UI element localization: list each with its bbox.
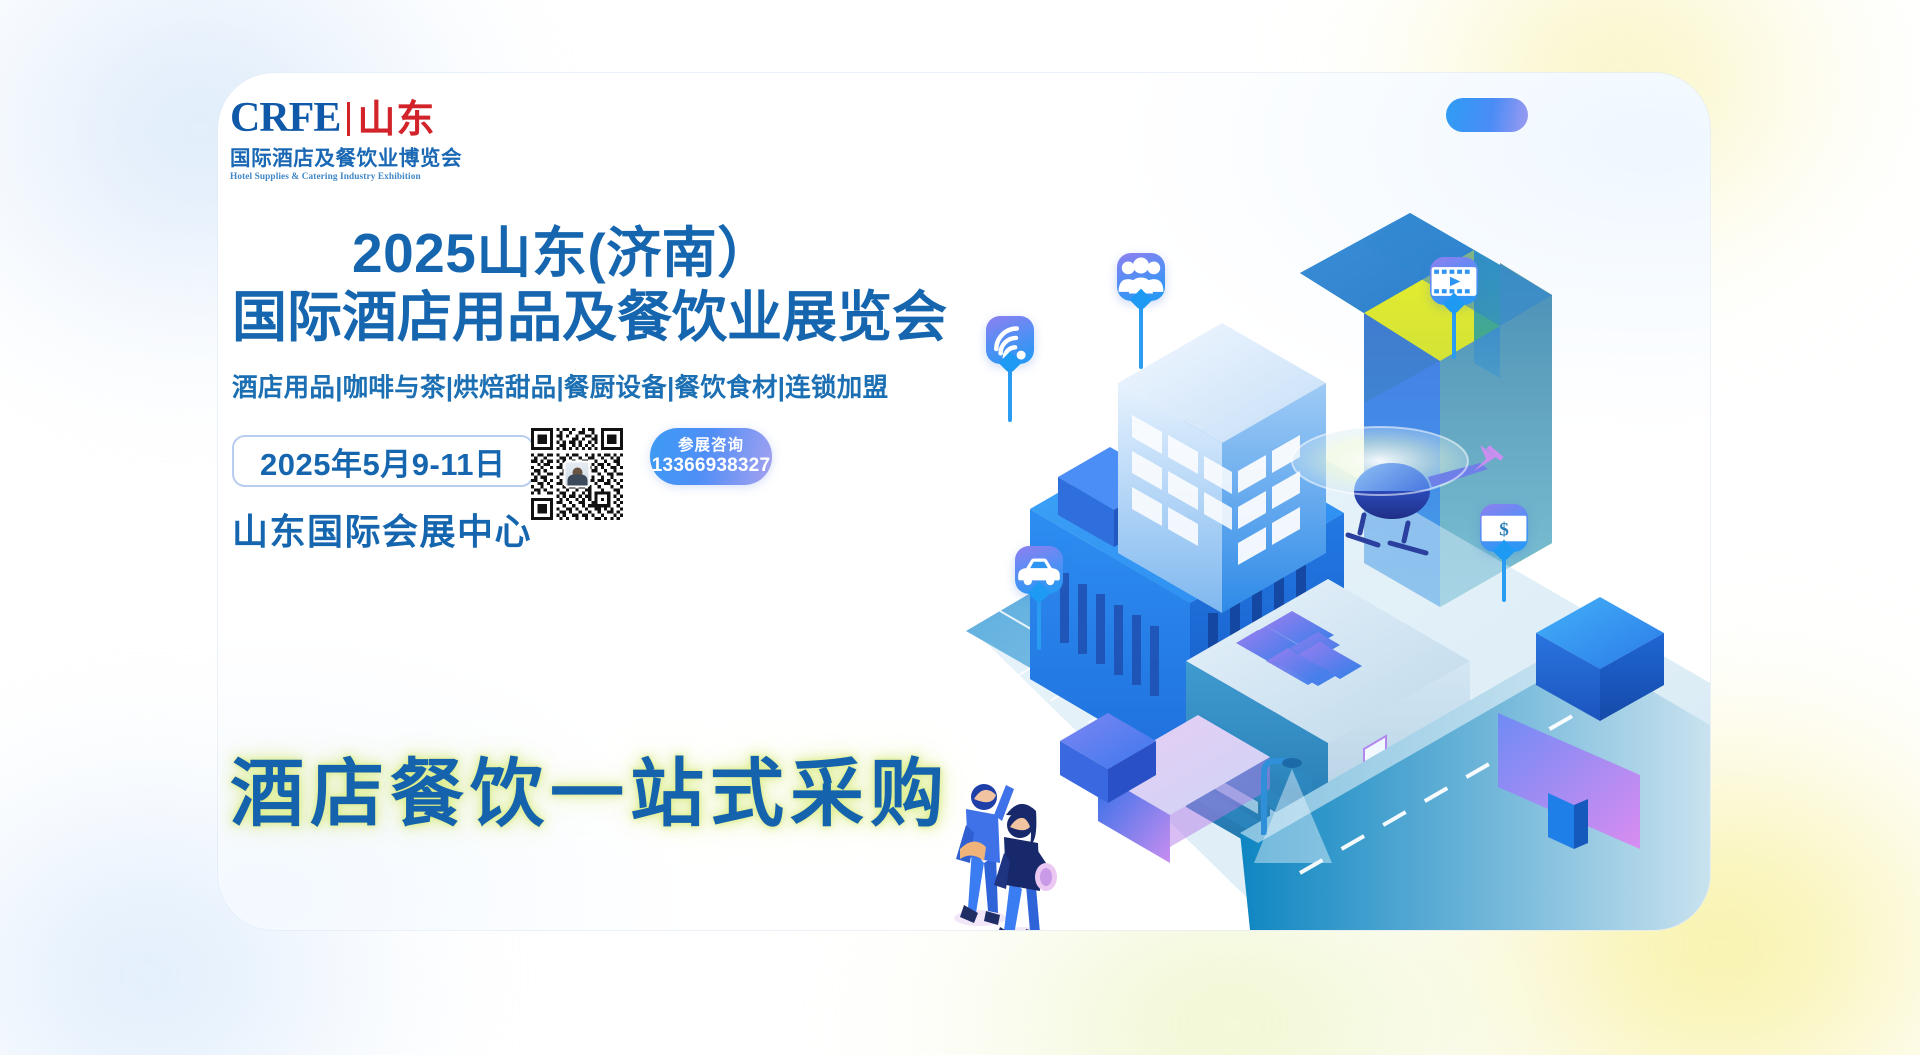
date-badge-label: 2025年5月9-11日 [260,439,506,484]
people-icon [1117,73,1165,706]
car-icon [1015,142,1063,931]
pin-badge [1430,257,1478,305]
poster-stage: CRFE 山东 国际酒店及餐饮业博览会 Hotel Supplies & Cat… [0,0,1920,1055]
contact-bubble[interactable]: 参展咨询 13366938327 [650,428,772,485]
pin-badge [1015,546,1063,594]
logo-english-name: Hotel Supplies & Catering Industry Exhib… [230,172,480,182]
qr-center-avatar [564,461,591,488]
money-pin[interactable]: $ [1480,504,1528,552]
pin-badge [1117,253,1165,301]
people-pin[interactable] [1117,253,1165,301]
logo-brand-text: CRFE [230,97,340,139]
title-line-1: 2025山东(济南） [232,221,932,285]
pin-badge: $ [1480,504,1528,552]
crfe-logo: CRFE 山东 国际酒店及餐饮业博览会 Hotel Supplies & Cat… [230,95,480,182]
isometric-city-illustration: $ [940,73,1710,930]
logo-region-text: 山东 [357,101,435,139]
category-list: 酒店用品|咖啡与茶|烘焙甜品|餐厨设备|餐饮食材|连锁加盟 [232,371,932,405]
video-pin[interactable] [1430,257,1478,305]
contact-label: 参展咨询 [678,437,744,455]
money-icon: $ [1480,100,1528,931]
logo-divider-bar [347,102,350,136]
svg-text:$: $ [1499,519,1509,540]
avatar-body [567,475,587,486]
video-icon [1430,73,1478,710]
title-line-2: 国际酒店用品及餐饮业展览会 [232,285,932,349]
contact-phone: 13366938327 [652,455,770,477]
poster-card: CRFE 山东 国际酒店及餐饮业博览会 Hotel Supplies & Cat… [218,73,1710,930]
slogan-text: 酒店餐饮一站式采购 [230,734,950,841]
logo-wordmark-row: CRFE 山东 [230,95,480,139]
capsule-decoration [1446,98,1528,132]
car-pin[interactable] [1015,546,1063,594]
wechat-qr-code[interactable] [531,428,623,520]
logo-chinese-name: 国际酒店及餐饮业博览会 [230,141,480,171]
date-badge: 2025年5月9-11日 [232,435,534,487]
